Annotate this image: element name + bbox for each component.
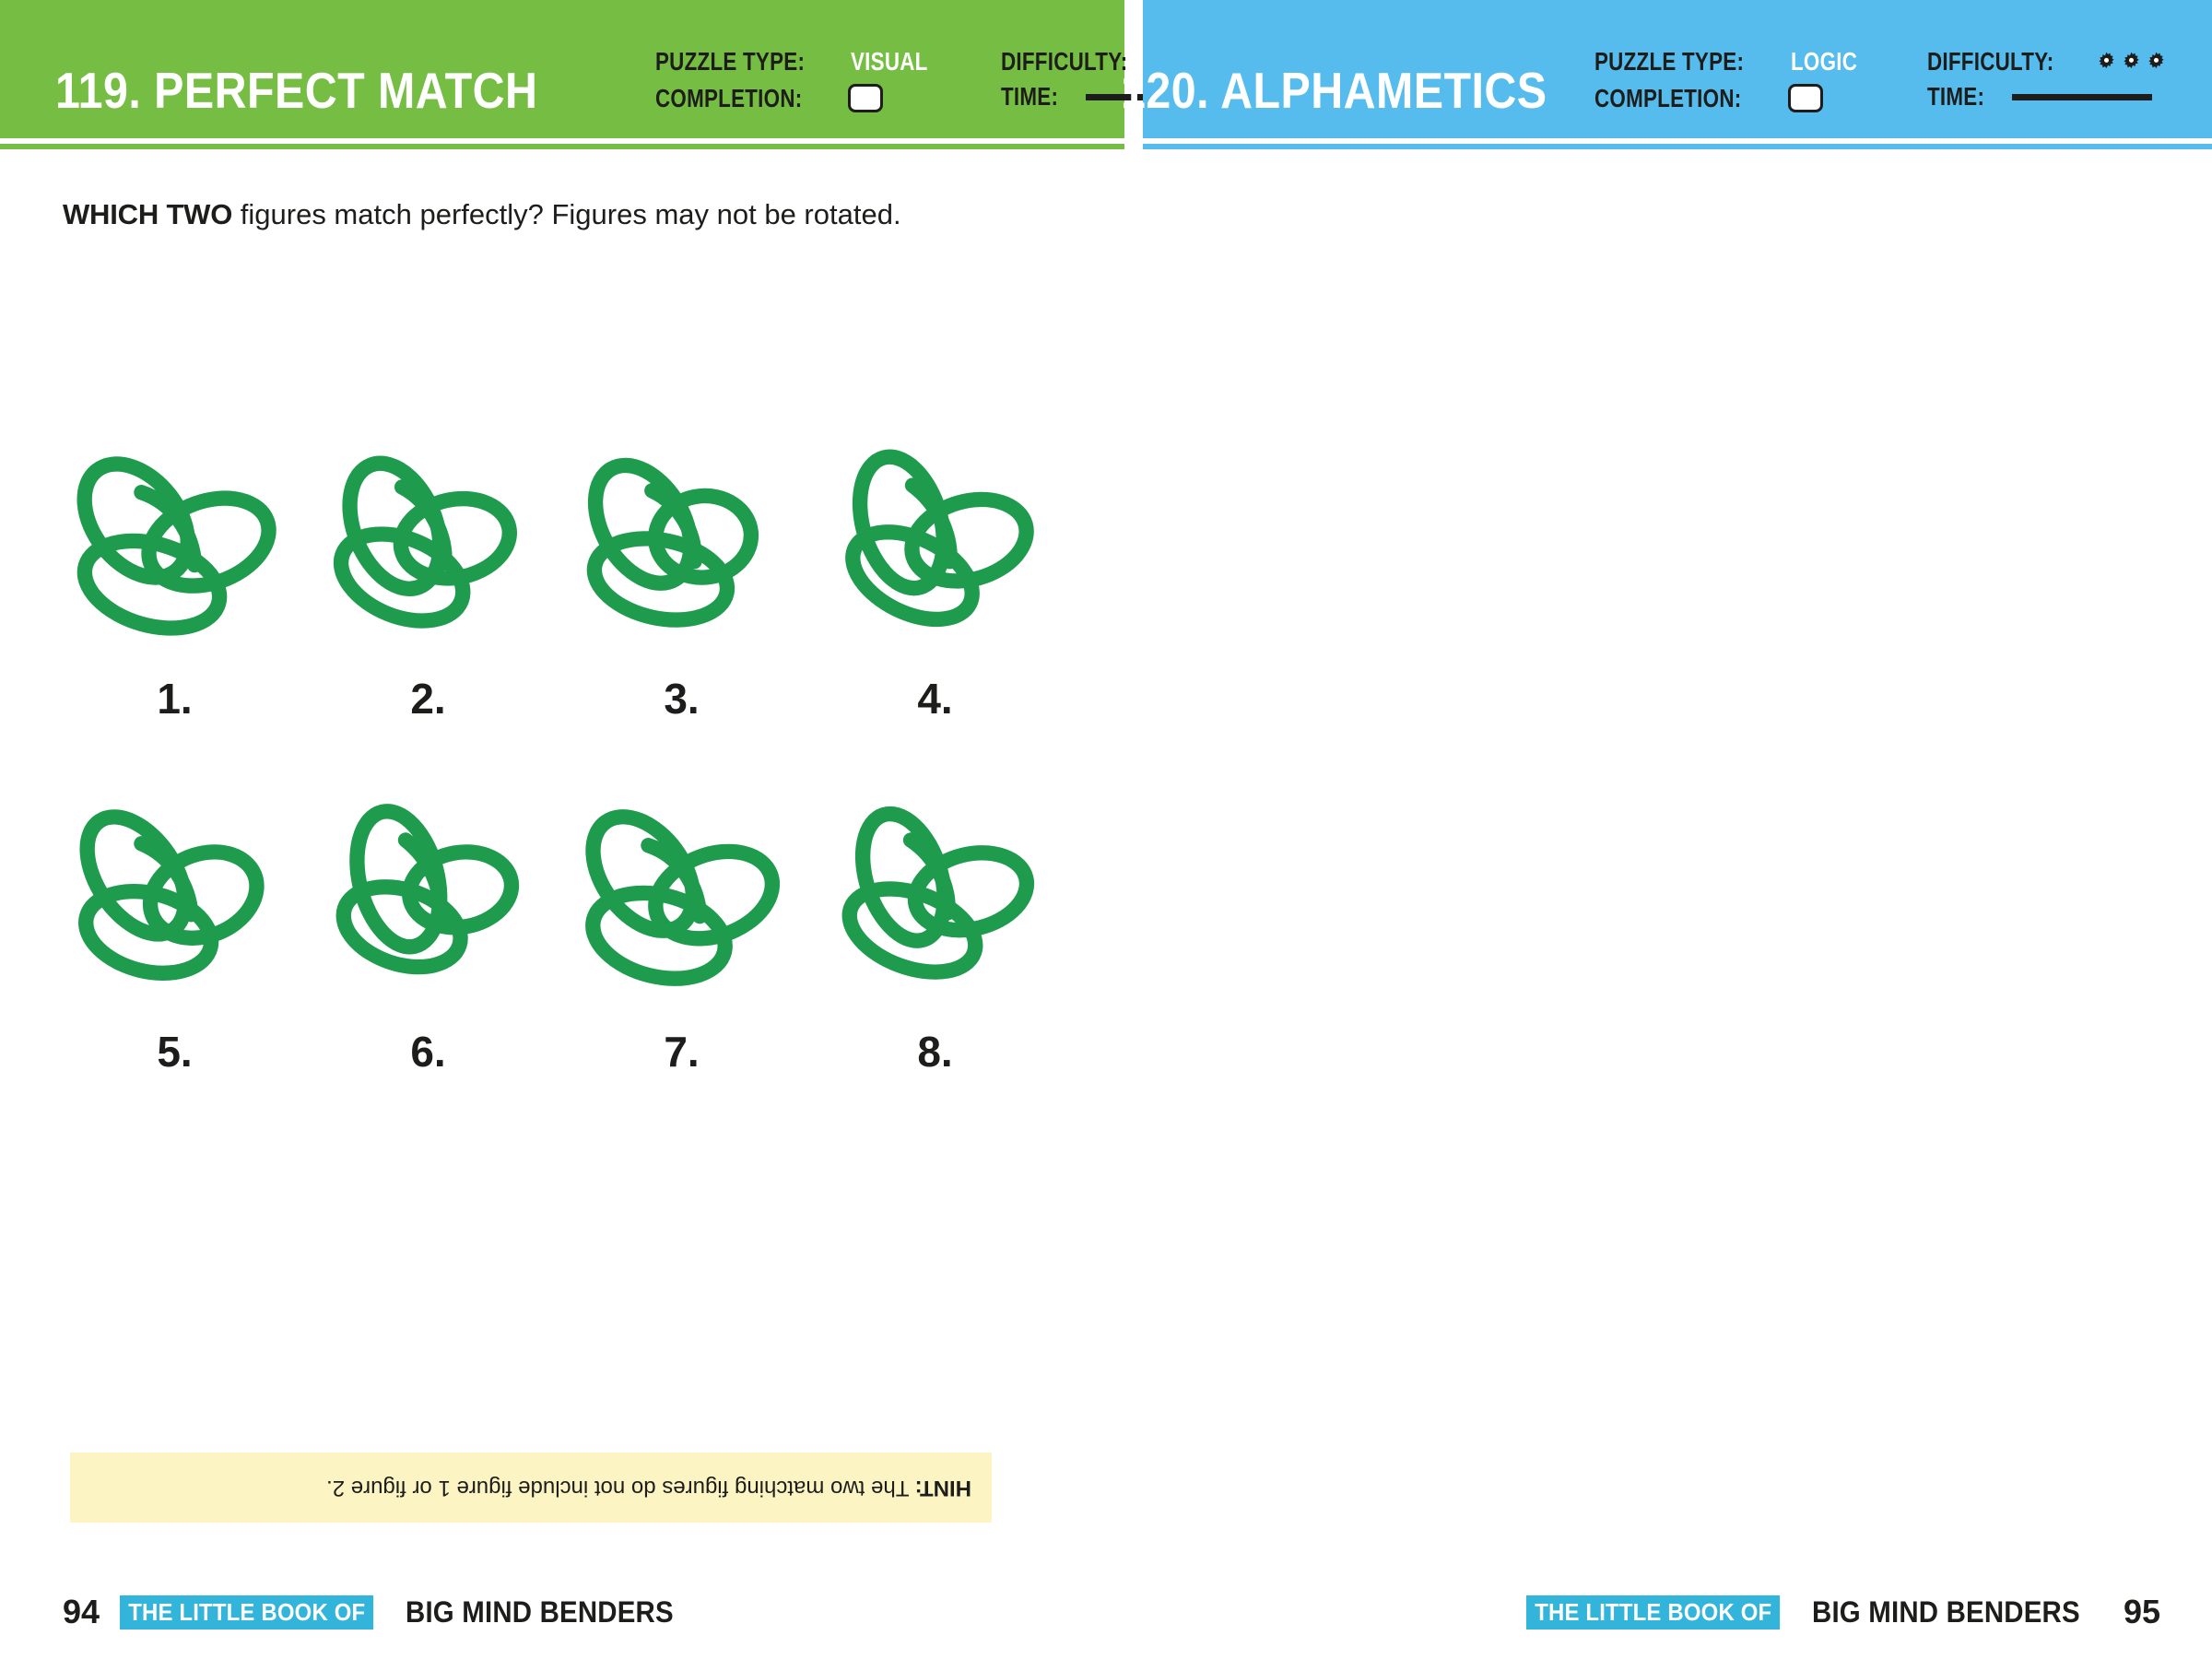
prompt-lead-left: WHICH TWO [63, 198, 232, 230]
hint-body-left: The two matching figures do not include … [326, 1476, 915, 1500]
knot-figure-icon [313, 442, 544, 668]
time-label: TIME: [1927, 84, 1984, 110]
completion-checkbox[interactable] [1788, 84, 1823, 112]
page-left: 119. PERFECT MATCH PUZZLE TYPE: VISUAL C… [0, 0, 1124, 1659]
figure-label: 4. [917, 674, 952, 724]
puzzle-header-right: 120. ALPHAMETICS PUZZLE TYPE: LOGIC COMP… [1143, 0, 2212, 138]
puzzle-header-left: 119. PERFECT MATCH PUZZLE TYPE: VISUAL C… [0, 0, 1124, 138]
hint-box-left: HINT: The two matching figures do not in… [70, 1453, 992, 1523]
brand-tag: THE LITTLE BOOK OF [1526, 1595, 1781, 1630]
difficulty-gears-right [2095, 51, 2168, 74]
completion-checkbox[interactable] [848, 84, 883, 112]
puzzle-type-label: PUZZLE TYPE: [1594, 49, 1744, 75]
completion-row-right: COMPLETION: [1594, 84, 1874, 112]
figure-cell[interactable]: 7. [555, 795, 808, 1077]
brand-name: BIG MIND BENDERS [1812, 1595, 2080, 1630]
prompt-body-left: figures match perfectly? Figures may not… [232, 198, 900, 230]
figure-cell[interactable]: 1. [48, 442, 301, 724]
figure-grid: 1. 2. [48, 442, 1062, 1077]
knot-figure-icon [60, 442, 290, 668]
page-gutter [1124, 0, 1143, 1659]
figure-label: 2. [410, 674, 445, 724]
book-spread: 119. PERFECT MATCH PUZZLE TYPE: VISUAL C… [0, 0, 2212, 1659]
completion-row-left: COMPLETION: [655, 84, 947, 112]
difficulty-row-right: DIFFICULTY: [1927, 49, 2168, 75]
page-number: 94 [63, 1593, 100, 1631]
header-rule-right [1143, 144, 2212, 149]
gear-icon [2145, 51, 2168, 74]
puzzle-type-label: PUZZLE TYPE: [655, 49, 805, 75]
difficulty-label: DIFFICULTY: [1001, 49, 1127, 75]
gear-icon [2095, 51, 2118, 74]
figure-label: 8. [917, 1027, 952, 1077]
gear-icon [2120, 51, 2143, 74]
knot-figure-icon [60, 795, 290, 1021]
figure-cell[interactable]: 5. [48, 795, 301, 1077]
puzzle-type-value: VISUAL [851, 49, 928, 75]
page-number: 95 [2124, 1593, 2160, 1631]
figure-label: 5. [157, 1027, 192, 1077]
hint-text-left: HINT: The two matching figures do not in… [326, 1472, 971, 1504]
time-label: TIME: [1001, 84, 1058, 110]
brand-tag: THE LITTLE BOOK OF [120, 1595, 374, 1630]
knot-figure-icon [313, 795, 544, 1021]
figure-cell[interactable]: 3. [555, 442, 808, 724]
page-title-left: 119. PERFECT MATCH [55, 65, 537, 116]
brand-name: BIG MIND BENDERS [406, 1595, 674, 1630]
knot-figure-icon [567, 442, 797, 668]
figure-cell[interactable]: 2. [301, 442, 555, 724]
prompt-left: WHICH TWO figures match perfectly? Figur… [63, 195, 1049, 235]
time-write-line[interactable] [2012, 94, 2152, 100]
footer-left: 94 THE LITTLE BOOK OF BIG MIND BENDERS [63, 1593, 697, 1631]
completion-label: COMPLETION: [1594, 86, 1741, 112]
brand-lockup: THE LITTLE BOOK OF BIG MIND BENDERS [1526, 1595, 2103, 1630]
hint-label-left: HINT: [915, 1476, 971, 1500]
puzzle-type-value: LOGIC [1791, 49, 1857, 75]
difficulty-label: DIFFICULTY: [1927, 49, 2053, 75]
brand-lockup: THE LITTLE BOOK OF BIG MIND BENDERS [120, 1595, 697, 1630]
figure-label: 3. [664, 674, 699, 724]
figure-cell[interactable]: 4. [808, 442, 1062, 724]
footer-right: THE LITTLE BOOK OF BIG MIND BENDERS 95 [1526, 1593, 2160, 1631]
time-row-right: TIME: [1927, 84, 2168, 110]
puzzle-type-row-right: PUZZLE TYPE: LOGIC [1594, 49, 1874, 75]
completion-label: COMPLETION: [655, 86, 802, 112]
figure-cell[interactable]: 8. [808, 795, 1062, 1077]
header-rule-left [0, 144, 1124, 149]
figure-cell[interactable]: 6. [301, 795, 555, 1077]
page-right: 120. ALPHAMETICS PUZZLE TYPE: LOGIC COMP… [1143, 0, 2212, 1659]
knot-figure-icon [820, 795, 1051, 1021]
figure-label: 6. [410, 1027, 445, 1077]
page-title-right: 120. ALPHAMETICS [1121, 65, 1547, 116]
knot-figure-icon [820, 442, 1051, 668]
figure-label: 7. [664, 1027, 699, 1077]
knot-figure-icon [567, 795, 797, 1021]
puzzle-type-row-left: PUZZLE TYPE: VISUAL [655, 49, 947, 75]
figure-label: 1. [157, 674, 192, 724]
